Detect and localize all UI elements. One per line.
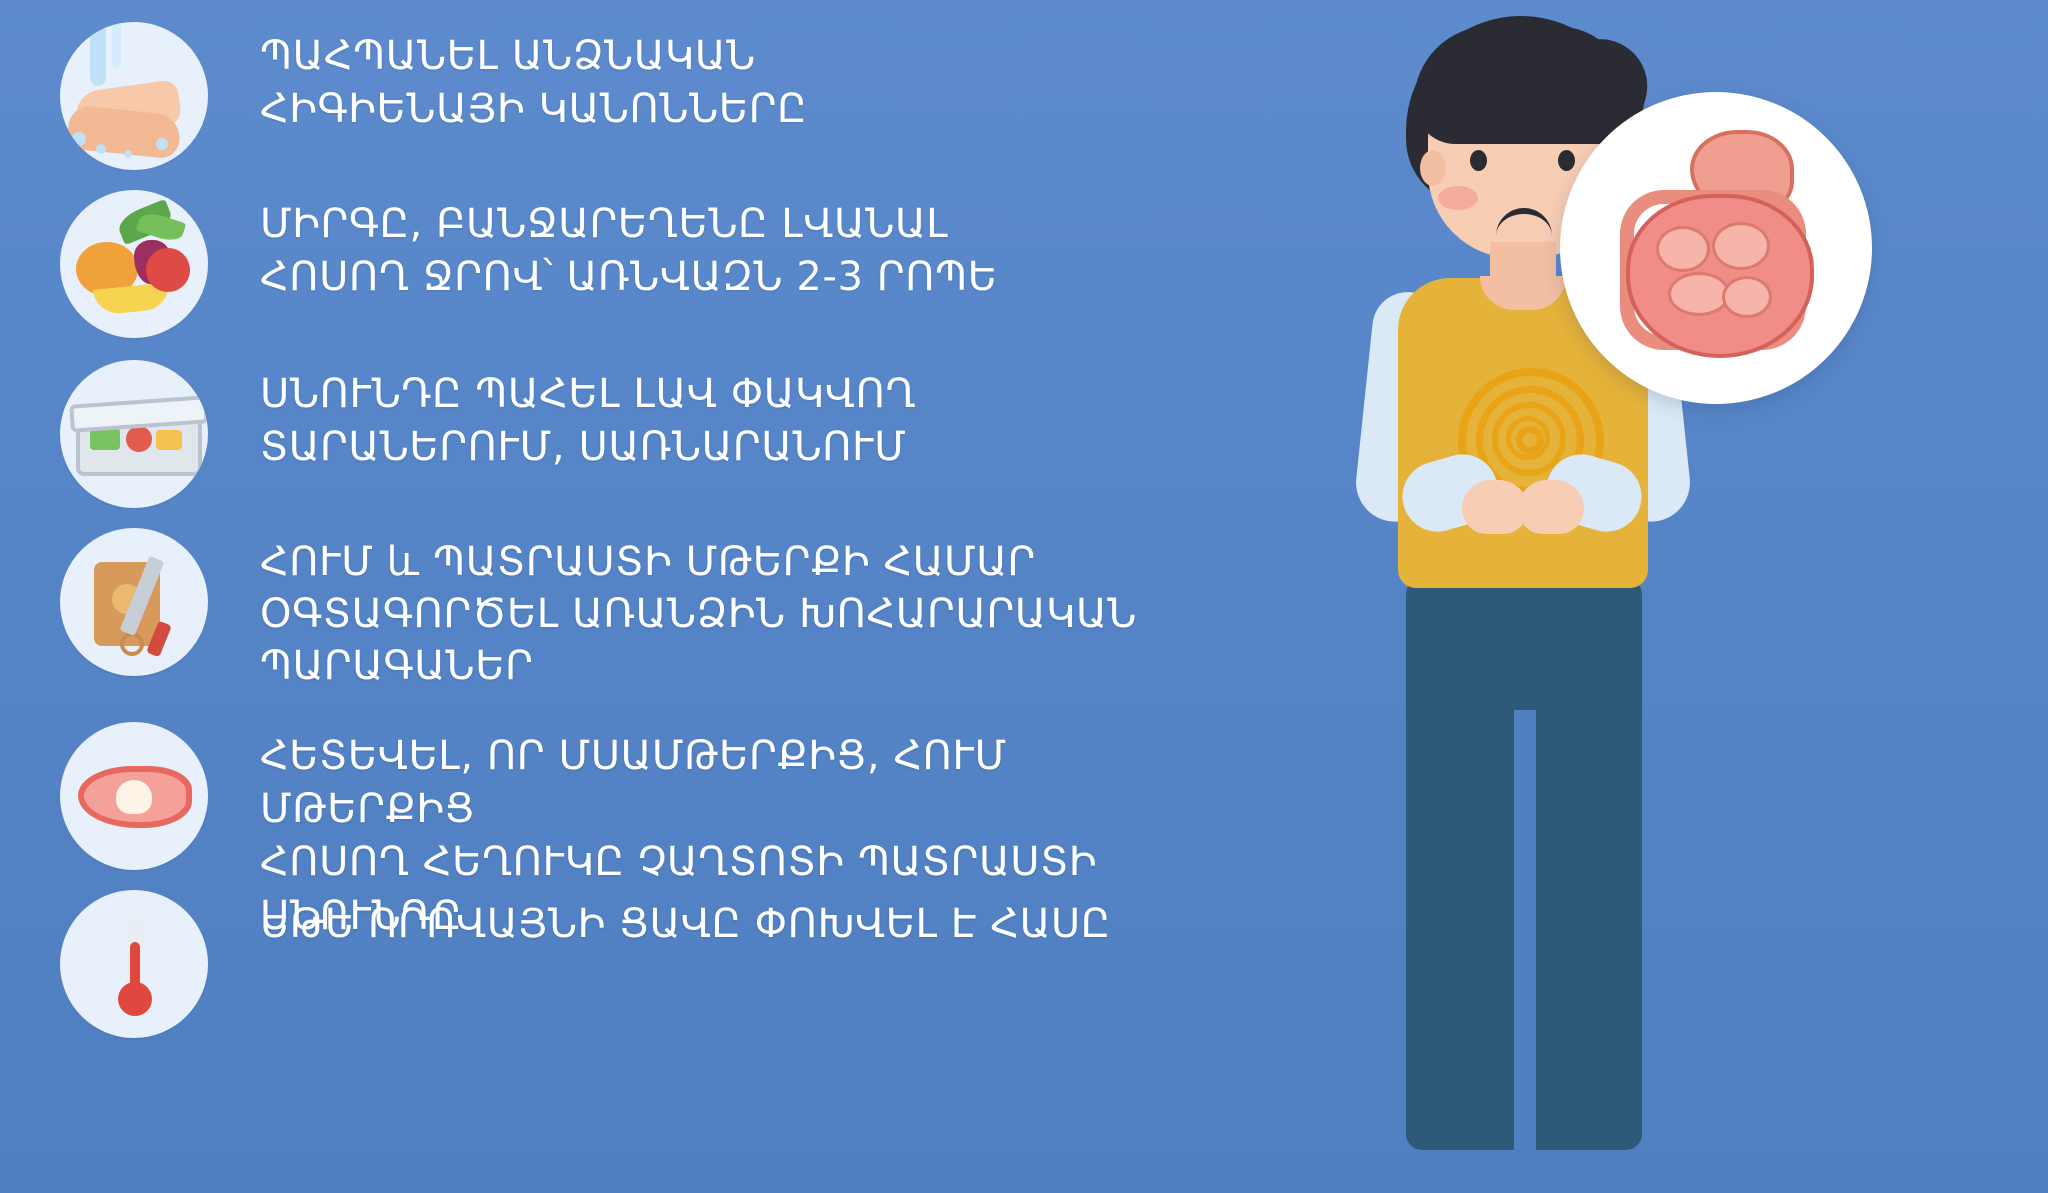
tip-item: ՍՆՈՒՆԴԸ ՊԱՀԵԼ ԼԱՎ ՓԱԿՎՈՂ ՏԱՐԱՆԵՐՈՒՄ, ՍԱՌ… [60,360,916,508]
eye-left [1470,150,1487,171]
tip-item: ՄԻՐԳԸ, ԲԱՆՋԱՐԵՂԵՆԸ ԼՎԱՆԱԼ ՀՈՍՈՂ ՋՐՈՎ՝ ԱՌ… [60,190,998,338]
ear-left [1420,150,1446,186]
cheek-left [1438,186,1478,210]
illustration-scene [1130,0,2048,1193]
tip-text: ՊԱՀՊԱՆԵԼ ԱՆՁՆԱԿԱՆ ՀԻԳԻԵՆԱՅԻ ԿԱՆՈՆՆԵՐԸ [260,22,807,136]
tip-text: ՀՈՒՄ և ՊԱՏՐԱՍՏԻ ՄԹԵՐՔԻ ՀԱՄԱՐ ՕԳՏԱԳՈՐԾԵԼ … [260,528,1137,692]
tip-text: ԵԹԵ ՈՐՈՎԱՅՆԻ ՑԱՎԸ ՓՈԽՎԵԼ Է ՀԱՍԸ [260,890,1111,951]
tip-item: ՊԱՀՊԱՆԵԼ ԱՆՁՆԱԿԱՆ ՀԻԳԻԵՆԱՅԻ ԿԱՆՈՆՆԵՐԸ [60,22,807,170]
hand-right [1518,480,1584,534]
handwashing-icon [60,22,208,170]
tip-item: ՀՈՒՄ և ՊԱՏՐԱՍՏԻ ՄԹԵՐՔԻ ՀԱՄԱՐ ՕԳՏԱԳՈՐԾԵԼ … [60,528,1137,692]
eye-right [1558,150,1575,171]
tip-text: ՄԻՐԳԸ, ԲԱՆՋԱՐԵՂԵՆԸ ԼՎԱՆԱԼ ՀՈՍՈՂ ՋՐՈՎ՝ ԱՌ… [260,190,998,304]
thermometer-icon [60,890,208,1038]
leg-gap [1514,710,1536,1150]
raw-meat-icon [60,722,208,870]
tip-item: ԵԹԵ ՈՐՈՎԱՅՆԻ ՑԱՎԸ ՓՈԽՎԵԼ Է ՀԱՍԸ [60,890,1111,1038]
stomach-and-intestines-icon [1616,130,1816,362]
small-intestine [1626,194,1814,358]
food-container-icon [60,360,208,508]
tips-list: ՊԱՀՊԱՆԵԼ ԱՆՁՆԱԿԱՆ ՀԻԳԻԵՆԱՅԻ ԿԱՆՈՆՆԵՐԸ ՄԻ… [0,0,1180,1193]
fruits-vegetables-icon [60,190,208,338]
tip-text: ՍՆՈՒՆԴԸ ՊԱՀԵԼ ԼԱՎ ՓԱԿՎՈՂ ՏԱՐԱՆԵՐՈՒՄ, ՍԱՌ… [260,360,916,474]
knife-cutting-board-icon [60,528,208,676]
poster-root: ՊԱՀՊԱՆԵԼ ԱՆՁՆԱԿԱՆ ՀԻԳԻԵՆԱՅԻ ԿԱՆՈՆՆԵՐԸ ՄԻ… [0,0,2048,1193]
digestive-system-bubble [1560,92,1872,404]
